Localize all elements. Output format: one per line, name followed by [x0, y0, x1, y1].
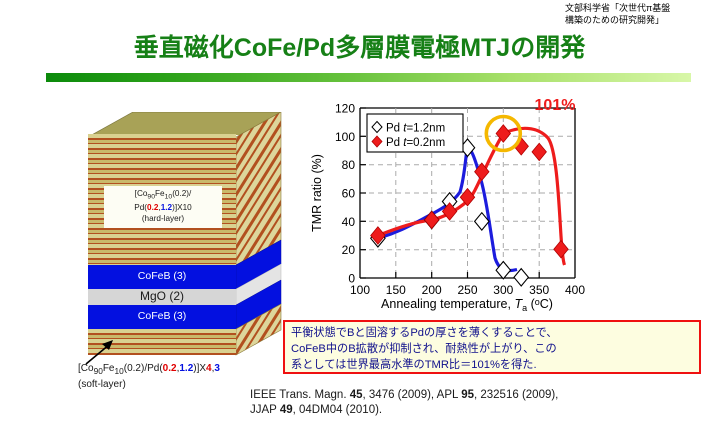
chart-x-tick-labels: 100 150 200 250 300 350 400 [350, 283, 585, 297]
citation-block: IEEE Trans. Magn. 45, 3476 (2009), APL 9… [250, 388, 690, 418]
chart-svg: 120 100 80 60 40 20 0 100 150 200 250 30… [305, 96, 595, 311]
layer-label-cofeb-top: CoFeB (3) [88, 270, 236, 282]
chart-y-tick-labels: 120 100 80 60 40 20 0 [335, 102, 355, 286]
hard-layer-line-3: (hard-layer) [105, 214, 221, 225]
svg-text:250: 250 [457, 283, 477, 297]
svg-text:100: 100 [335, 130, 355, 144]
layer-label-cofeb-bottom: CoFeB (3) [88, 310, 236, 322]
page-title: 垂直磁化CoFe/Pd多層膜電極MTJの開発 [0, 28, 719, 64]
svg-text:400: 400 [565, 283, 585, 297]
svg-text:60: 60 [342, 187, 356, 201]
tmr-vs-annealing-chart: 120 100 80 60 40 20 0 100 150 200 250 30… [305, 96, 595, 311]
hard-layer-line-1: [Co90Fe10(0.2)/ [105, 189, 221, 203]
legend-label-pd-1p2nm: Pd t=1.2nm [386, 123, 445, 135]
legend-label-pd-0p2nm: Pd t=0.2nm [386, 137, 445, 149]
film-stack-diagram: CoFeB (3) MgO (2) CoFeB (3) [Co90Fe10(0.… [88, 112, 303, 357]
soft-layer-line-1: [Co90Fe10(0.2)/Pd(0.2,1.2)]X4,3 [78, 362, 308, 378]
conclusion-note-box: 平衡状態でBと固溶するPdの厚さを薄くすることで、 CoFeB中のB拡散が抑制さ… [283, 320, 701, 374]
citation-line-2: JJAP 49, 04DM04 (2010). [250, 403, 690, 418]
hard-layer-annotation: [Co90Fe10(0.2)/ Pd(0.2,1.2)]X10 (hard-la… [104, 186, 222, 228]
chart-x-axis-label: Annealing temperature, Ta (oC) [381, 297, 553, 311]
slide-root: 文部科学省「次世代π基盤 構築のための研究開発」 垂直磁化CoFe/Pd多層膜電… [0, 0, 719, 430]
svg-text:300: 300 [493, 283, 513, 297]
svg-text:100: 100 [350, 283, 370, 297]
org-line-2: 構築のための研究開発」 [565, 14, 711, 26]
hard-layer-line-2: Pd(0.2,1.2)]X10 [105, 203, 221, 214]
peak-annotation-label: 101% [535, 97, 576, 114]
layer-label-mgo: MgO (2) [88, 289, 236, 303]
svg-text:80: 80 [342, 158, 356, 172]
org-line-1: 文部科学省「次世代π基盤 [565, 2, 711, 14]
soft-layer-caption: [Co90Fe10(0.2)/Pd(0.2,1.2)]X4,3 (soft-la… [78, 362, 308, 391]
chart-legend: Pd t=1.2nm Pd t=0.2nm [367, 114, 463, 152]
chart-y-axis-label: TMR ratio (%) [310, 154, 324, 232]
citation-line-1: IEEE Trans. Magn. 45, 3476 (2009), APL 9… [250, 388, 690, 403]
svg-text:20: 20 [342, 243, 356, 257]
svg-text:40: 40 [342, 215, 356, 229]
organization-label: 文部科学省「次世代π基盤 構築のための研究開発」 [565, 2, 711, 26]
svg-text:150: 150 [386, 283, 406, 297]
note-line-3: 系としては世界最高水準のTMR比＝101%を得た. [291, 357, 693, 373]
green-divider-bar [46, 73, 691, 82]
note-line-2: CoFeB中のB拡散が抑制され、耐熱性が上がり、この [291, 341, 693, 357]
svg-text:200: 200 [422, 283, 442, 297]
note-line-1: 平衡状態でBと固溶するPdの厚さを薄くすることで、 [291, 325, 693, 341]
svg-text:120: 120 [335, 102, 355, 116]
stack-front-faces: CoFeB (3) MgO (2) CoFeB (3) [Co90Fe10(0.… [88, 134, 236, 352]
svg-text:350: 350 [529, 283, 549, 297]
